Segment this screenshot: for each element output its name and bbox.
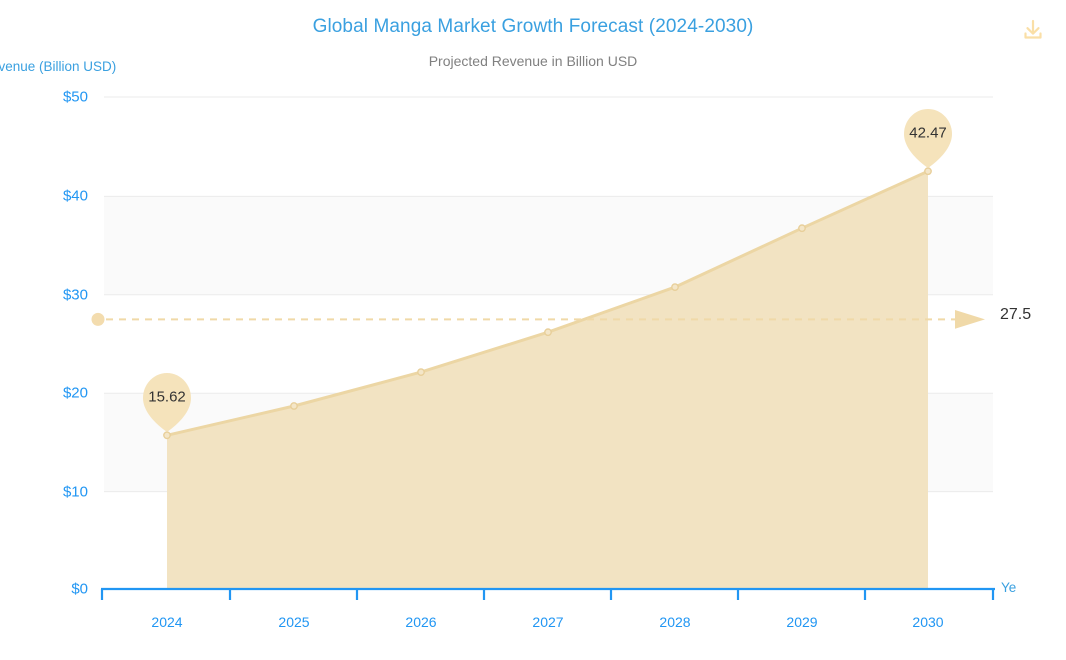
y-tick-30: $30 (18, 287, 88, 304)
data-point-2025[interactable] (291, 403, 297, 409)
y-tick-0: $0 (18, 581, 88, 598)
y-tick-40: $40 (18, 188, 88, 205)
chart-container: Global Manga Market Growth Forecast (202… (0, 0, 1066, 660)
pin-marker-2030[interactable] (904, 109, 952, 168)
data-point-2028[interactable] (672, 284, 678, 290)
annotation-value-label: 27.5 (1000, 306, 1031, 324)
x-tick-2030: 2030 (912, 614, 943, 630)
x-tick-2026: 2026 (405, 614, 436, 630)
data-point-2024[interactable] (164, 432, 170, 438)
x-tick-2027: 2027 (532, 614, 563, 630)
x-tick-2028: 2028 (659, 614, 690, 630)
y-axis-tick-labels: $50 $40 $30 $20 $10 $0 (0, 0, 88, 660)
x-tick-2024: 2024 (151, 614, 182, 630)
y-tick-10: $10 (18, 484, 88, 501)
annotation-arrowhead (955, 310, 985, 329)
data-point-2030[interactable] (925, 168, 931, 174)
y-tick-50: $50 (18, 89, 88, 106)
y-tick-20: $20 (18, 385, 88, 402)
data-point-2029[interactable] (799, 225, 805, 231)
x-tick-2025: 2025 (278, 614, 309, 630)
data-point-2027[interactable] (545, 329, 551, 335)
annotation-start-dot (92, 313, 105, 326)
data-point-2026[interactable] (418, 369, 424, 375)
plot-area (0, 0, 1066, 660)
x-tick-2029: 2029 (786, 614, 817, 630)
